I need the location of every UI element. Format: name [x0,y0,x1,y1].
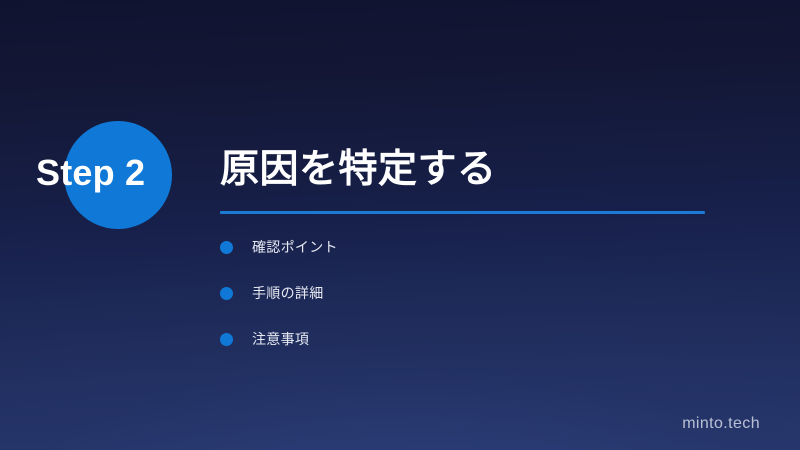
bullet-dot-icon [220,333,233,346]
step-badge-label: Step 2 [36,152,216,194]
slide-title: 原因を特定する [220,144,760,196]
bullet-label: 手順の詳細 [252,283,324,303]
slide-content: 原因を特定する 確認ポイント 手順の詳細 注意事項 [220,144,760,349]
slide-canvas: Step 2 原因を特定する 確認ポイント 手順の詳細 注意事項 minto.t… [0,0,800,450]
title-divider [220,211,705,214]
bullet-list: 確認ポイント 手順の詳細 注意事項 [220,237,760,349]
list-item: 手順の詳細 [220,283,760,303]
list-item: 確認ポイント [220,237,760,257]
bullet-dot-icon [220,241,233,254]
bullet-label: 確認ポイント [252,237,338,257]
bullet-label: 注意事項 [252,329,309,349]
bullet-dot-icon [220,287,233,300]
list-item: 注意事項 [220,329,760,349]
footer-brand: minto.tech [682,414,760,434]
